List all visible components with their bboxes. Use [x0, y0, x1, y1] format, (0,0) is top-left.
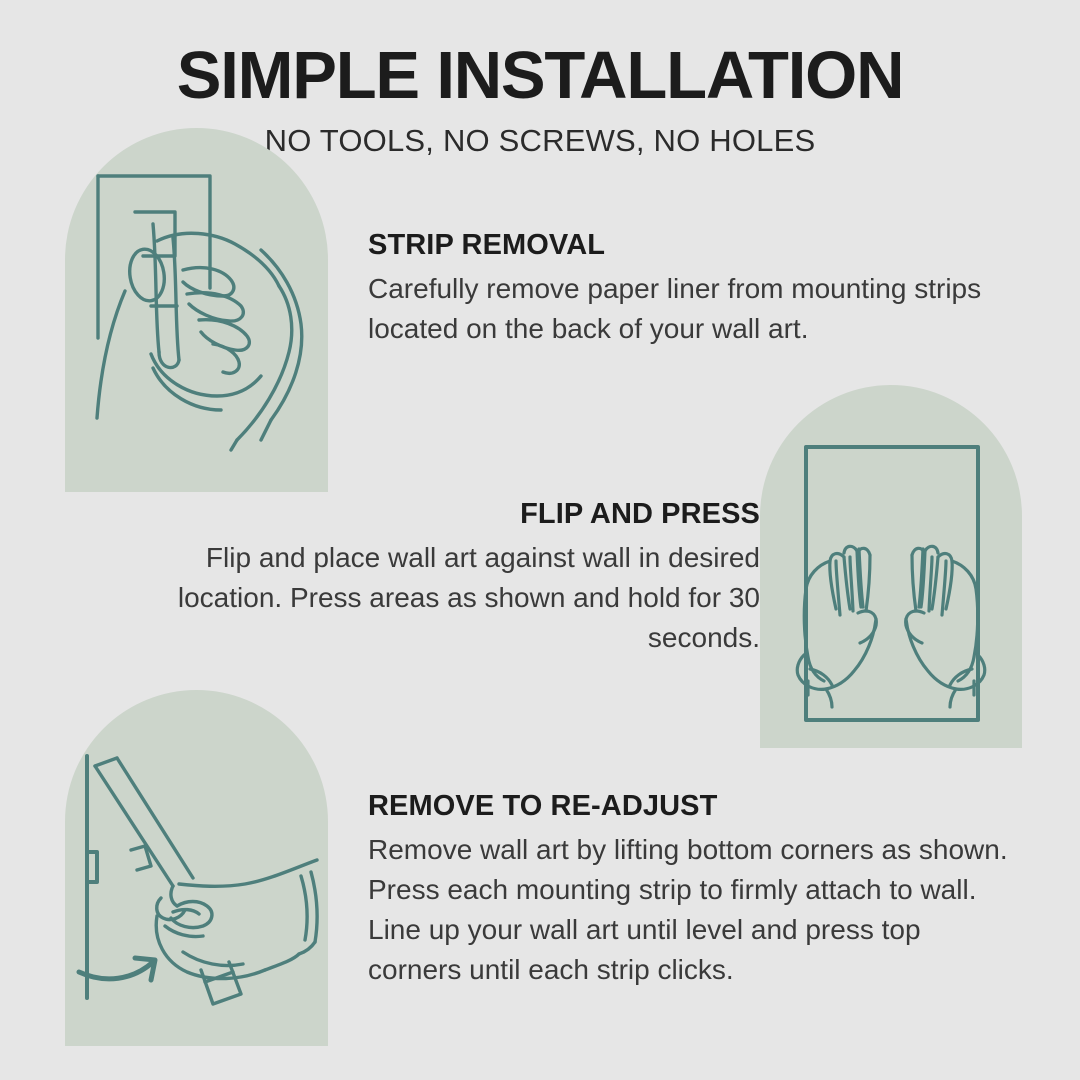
step-2-heading: FLIP AND PRESS: [100, 498, 760, 531]
step-3-heading: REMOVE TO RE-ADJUST: [368, 790, 1008, 823]
hand-peeling-liner-strip-icon: [65, 128, 328, 492]
step-2-text-block: FLIP AND PRESS Flip and place wall art a…: [100, 498, 760, 658]
step-1-body: Carefully remove paper liner from mounti…: [368, 269, 1000, 349]
step-1-heading: STRIP REMOVAL: [368, 229, 1000, 262]
two-hands-pressing-frame-icon: [760, 385, 1022, 748]
step-1-text-block: STRIP REMOVAL Carefully remove paper lin…: [368, 229, 1000, 349]
step-2-body: Flip and place wall art against wall in …: [100, 538, 760, 658]
step-3-text-block: REMOVE TO RE-ADJUST Remove wall art by l…: [368, 790, 1008, 990]
page-title: SIMPLE INSTALLATION: [0, 42, 1080, 110]
step-2-illustration-panel: [760, 385, 1022, 748]
installation-instructions-poster: SIMPLE INSTALLATION NO TOOLS, NO SCREWS,…: [0, 0, 1080, 1080]
step-3-body: Remove wall art by lifting bottom corner…: [368, 830, 1008, 990]
step-1-illustration-panel: [65, 128, 328, 492]
hand-lifting-art-from-wall-icon: [65, 690, 328, 1046]
step-3-illustration-panel: [65, 690, 328, 1046]
